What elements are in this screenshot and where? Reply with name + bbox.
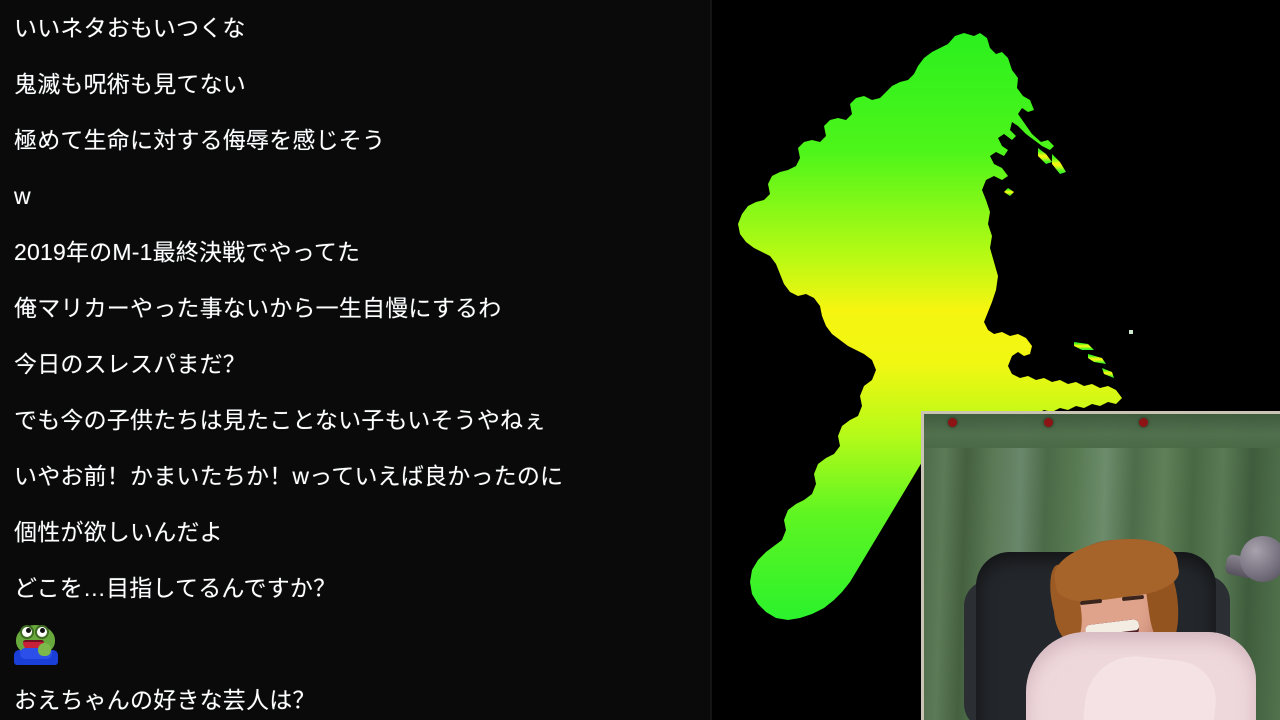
chat-message-row: w <box>0 168 710 224</box>
curtain-hook-icon <box>1044 418 1053 427</box>
chat-message-text: おえちゃんの好きな芸人は？ <box>14 686 316 714</box>
curtain-hook-icon <box>948 418 957 427</box>
microphone-head <box>1240 536 1280 582</box>
chat-message-text: でも今の子供たちは見たことない子もいそうやねぇ <box>14 406 546 434</box>
chat-message-row: 俺マリカーやった事ないから一生自慢にするわ <box>0 280 710 336</box>
stream-overlay-stage: いいネタおもいつくな鬼滅も呪術も見てない極めて生命に対する侮辱を感じそうw201… <box>0 0 1280 720</box>
chat-message-row <box>0 616 710 672</box>
chat-message-text: 個性が欲しいんだよ <box>14 518 223 546</box>
chat-message-row: どこを…目指してるんですか？ <box>0 560 710 616</box>
curtain-hook-icon <box>1139 418 1148 427</box>
chat-message-row: 2019年のM-1最終決戦でやってた <box>0 224 710 280</box>
pepe-laugh-emote <box>14 623 58 665</box>
chat-message-text: w <box>14 182 31 210</box>
chat-message-row: 今日のスレスパまだ？ <box>0 336 710 392</box>
webcam-overlay[interactable] <box>921 411 1280 720</box>
chat-message-text: 今日のスレスパまだ？ <box>14 350 246 378</box>
chat-message-text: 極めて生命に対する侮辱を感じそう <box>14 126 385 154</box>
chat-message-text: どこを…目指してるんですか？ <box>14 574 336 602</box>
chat-message-row: おえちゃんの好きな芸人は？ <box>0 672 710 720</box>
chat-message-text: 鬼滅も呪術も見てない <box>14 70 246 98</box>
chat-panel[interactable]: いいネタおもいつくな鬼滅も呪術も見てない極めて生命に対する侮辱を感じそうw201… <box>0 0 710 720</box>
chat-message-row: でも今の子供たちは見たことない子もいそうやねぇ <box>0 392 710 448</box>
chat-message-text: いやお前！かまいたちか！wっていえば良かったのに <box>14 462 563 490</box>
streamer-figure <box>1032 514 1242 720</box>
chat-message-list[interactable]: いいネタおもいつくな鬼滅も呪術も見てない極めて生命に対する侮辱を感じそうw201… <box>0 0 710 720</box>
chat-message-text: 2019年のM-1最終決戦でやってた <box>14 238 360 266</box>
chat-message-text: いいネタおもいつくな <box>14 14 246 42</box>
chat-message-row: いいネタおもいつくな <box>0 0 710 56</box>
chat-message-row: 個性が欲しいんだよ <box>0 504 710 560</box>
curtain-rod-area <box>924 414 1280 448</box>
chat-message-row: 極めて生命に対する侮辱を感じそう <box>0 112 710 168</box>
chat-message-row: 鬼滅も呪術も見てない <box>0 56 710 112</box>
chat-message-row: いやお前！かまいたちか！wっていえば良かったのに <box>0 448 710 504</box>
chat-message-text: 俺マリカーやった事ないから一生自慢にするわ <box>14 294 501 322</box>
microphone-icon <box>1232 536 1280 596</box>
